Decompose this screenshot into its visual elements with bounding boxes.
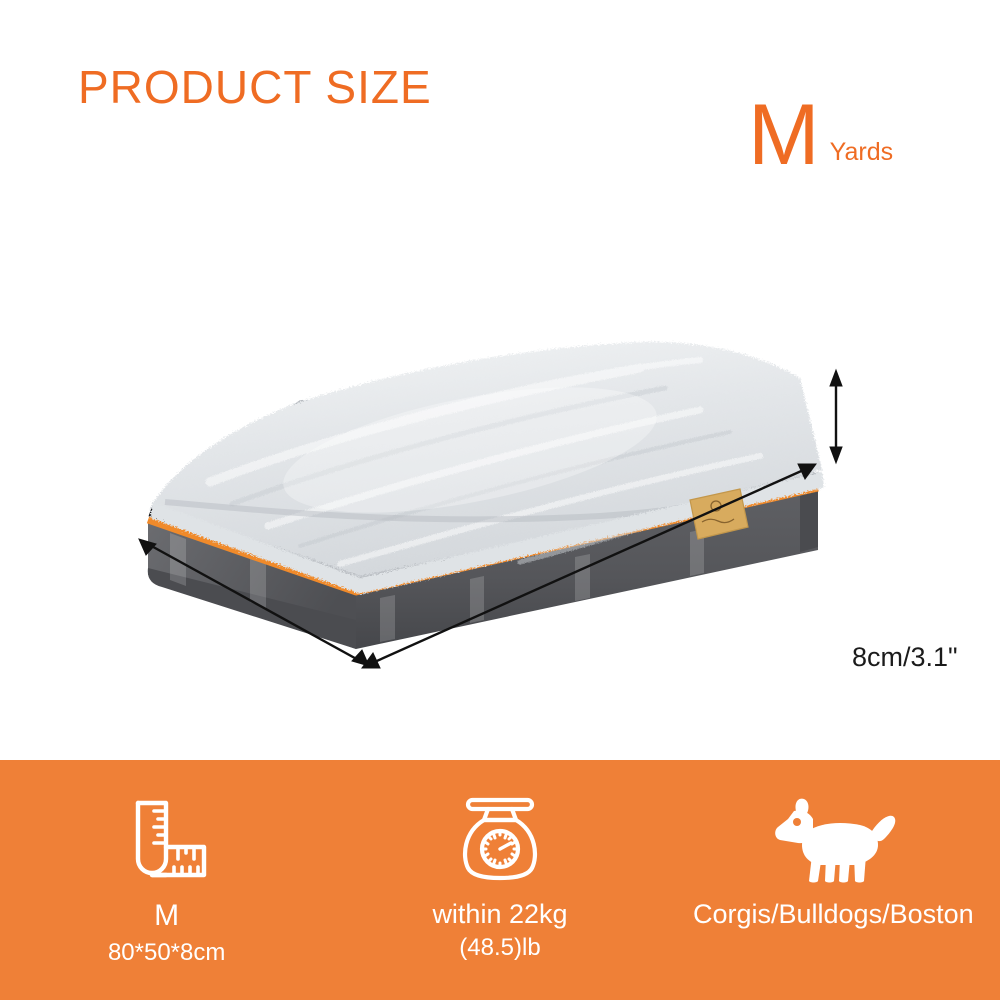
feature-size: M 80*50*8cm [0, 760, 333, 1000]
product-image-stage: 8cm/3.1" 80cm/31.4" 50cm/19.6" [0, 250, 1000, 700]
dog-bed-illustration [0, 250, 1000, 700]
ruler-icon [124, 792, 210, 888]
dimension-height [830, 370, 842, 463]
product-size-infographic: PRODUCT SIZE M Yards [0, 0, 1000, 1000]
page-title: PRODUCT SIZE [78, 60, 432, 114]
feature-weight: within 22kg (48.5)lb [333, 760, 666, 1000]
feature-bar: M 80*50*8cm [0, 760, 1000, 1000]
feature-weight-primary: within 22kg [432, 896, 567, 932]
dog-icon [768, 792, 898, 888]
brand-name: Yards [830, 138, 893, 167]
feature-size-primary: M [154, 896, 179, 937]
feature-weight-secondary: (48.5)lb [459, 932, 540, 964]
dimension-label-height: 8cm/3.1" [852, 642, 958, 673]
feature-breeds-primary: Corgis/Bulldogs/Boston [693, 896, 974, 932]
bed-bottom-corner-right [800, 490, 818, 552]
scale-icon [454, 792, 546, 888]
brand-logo: M Yards [748, 100, 893, 171]
feature-size-secondary: 80*50*8cm [108, 937, 225, 969]
brand-size-mark: M [748, 100, 818, 171]
feature-breeds: Corgis/Bulldogs/Boston [667, 760, 1000, 1000]
